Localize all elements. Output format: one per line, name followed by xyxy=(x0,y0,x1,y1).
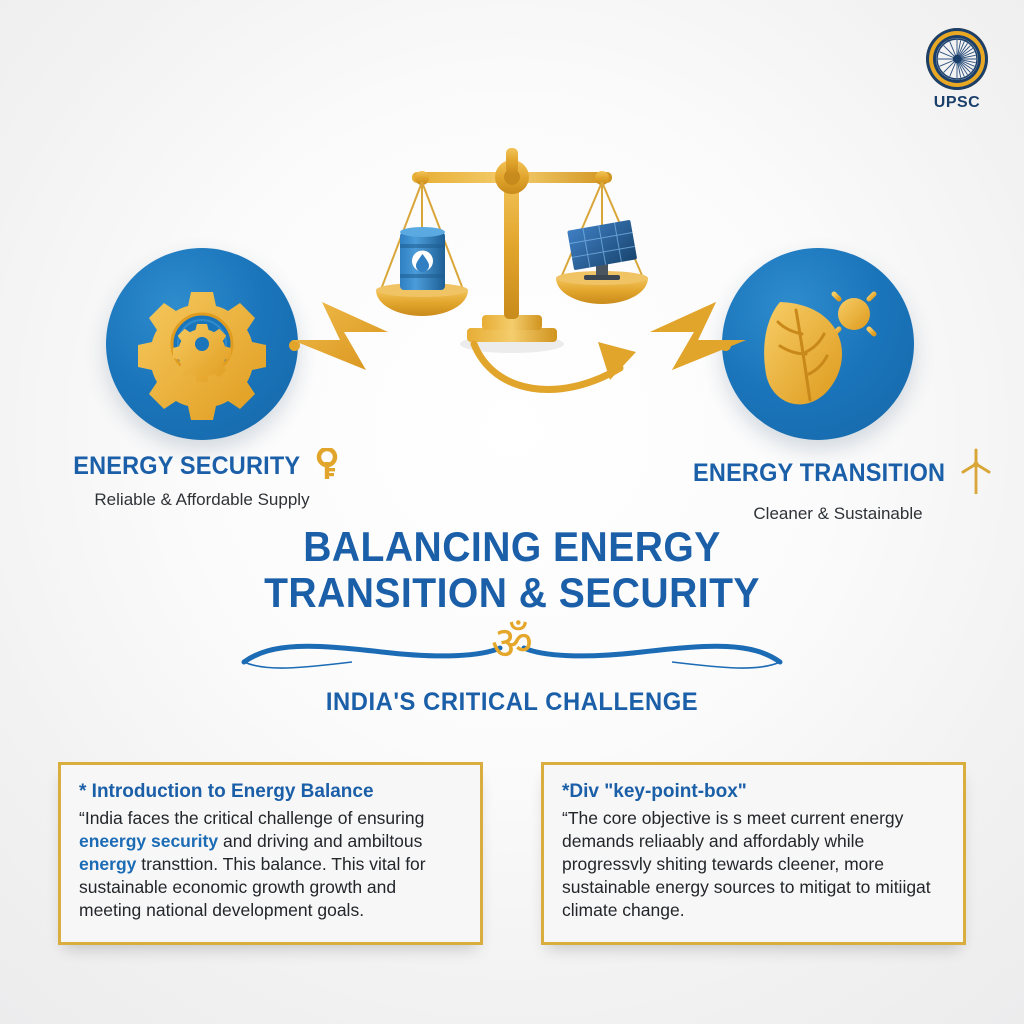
label-energy-security: ENERGY SECURITY Reliable & Affordable Su… xyxy=(30,448,374,510)
key-point-heading: *Div "key-point-box" xyxy=(562,781,945,803)
lightning-bolt-icon xyxy=(288,296,398,381)
om-symbol: ॐ xyxy=(0,620,1024,666)
upsc-logo-text: UPSC xyxy=(918,94,996,112)
page-subtitle: INDIA'S CRITICAL CHALLENGE xyxy=(26,688,999,717)
wind-turbine-icon xyxy=(961,448,991,499)
curved-arrow-icon xyxy=(470,338,660,413)
title-line-1: BALANCING ENERGY xyxy=(303,523,721,570)
gear-icon xyxy=(106,248,298,440)
energy-transition-title: ENERGY TRANSITION xyxy=(693,459,945,488)
key-point-boxes: * Introduction to Energy Balance “India … xyxy=(58,762,966,945)
energy-security-title: ENERGY SECURITY xyxy=(73,452,300,481)
node-energy-security[interactable] xyxy=(106,248,298,440)
node-energy-transition[interactable] xyxy=(722,248,914,440)
key-point-heading: * Introduction to Energy Balance xyxy=(79,781,462,803)
key-point-body: “The core objective is s meet current en… xyxy=(562,807,945,922)
label-energy-transition: ENERGY TRANSITION Cleaner & Sustainable xyxy=(676,448,1000,524)
upsc-logo: UPSC xyxy=(918,28,996,112)
key-point-body: “India faces the critical challenge of e… xyxy=(79,807,462,922)
key-icon xyxy=(316,448,338,485)
energy-transition-subtitle: Cleaner & Sustainable xyxy=(676,504,1000,524)
energy-security-subtitle: Reliable & Affordable Supply xyxy=(30,490,374,510)
title-line-2: TRANSITION & SECURITY xyxy=(264,569,760,616)
leaf-sun-icon xyxy=(722,248,914,440)
page-title: BALANCING ENERGY TRANSITION & SECURITY xyxy=(0,524,1024,616)
ashoka-chakra-icon xyxy=(926,28,988,90)
key-point-box: *Div "key-point-box" “The core objective… xyxy=(541,762,966,945)
infographic-canvas: UPSC xyxy=(0,0,1024,1024)
solar-panel-icon xyxy=(567,220,637,280)
key-point-box: * Introduction to Energy Balance “India … xyxy=(58,762,483,945)
